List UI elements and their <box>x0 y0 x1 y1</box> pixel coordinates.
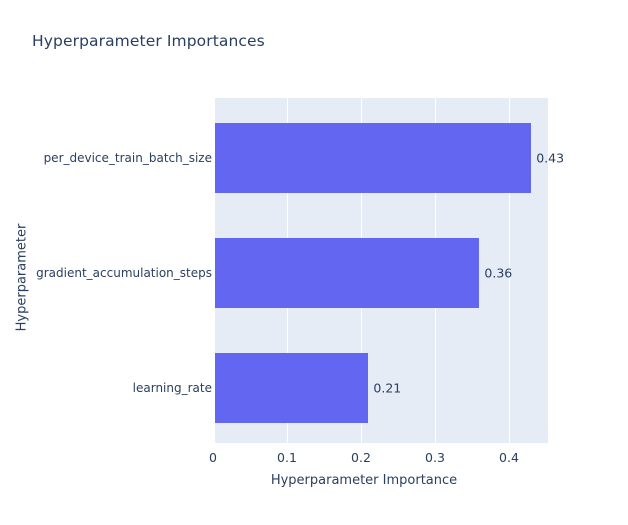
x-axis-tick-label: 0.2 <box>351 450 371 465</box>
bar-value-label: 0.43 <box>536 151 564 166</box>
x-axis-tick-label: 0.4 <box>499 450 519 465</box>
bar[interactable] <box>215 123 531 193</box>
x-axis-tick-label: 0 <box>209 450 217 465</box>
y-axis-tick-label: learning_rate <box>133 381 212 395</box>
y-axis-tick-label: gradient_accumulation_steps <box>36 266 212 280</box>
bar-value-label: 0.21 <box>373 381 401 396</box>
bar[interactable] <box>215 353 368 423</box>
bar-value-label: 0.36 <box>484 266 512 281</box>
y-axis-title: Hyperparameter <box>15 208 30 348</box>
x-axis-title: Hyperparameter Importance <box>0 473 628 488</box>
hyperparameter-importance-chart: Hyperparameter Importances 0.430.360.21p… <box>0 0 628 525</box>
bar[interactable] <box>215 238 479 308</box>
chart-title: Hyperparameter Importances <box>32 32 265 50</box>
y-axis-tick-label: per_device_train_batch_size <box>44 151 212 165</box>
x-axis-tick-label: 0.1 <box>277 450 297 465</box>
x-axis-tick-label: 0.3 <box>425 450 445 465</box>
x-axis-title-label: Hyperparameter Importance <box>271 473 457 488</box>
